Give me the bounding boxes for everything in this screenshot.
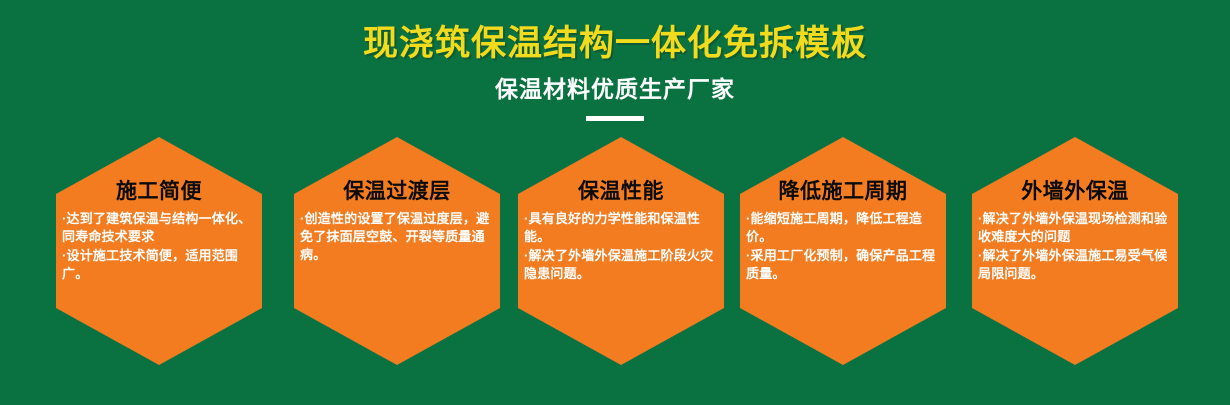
feature-hexagon-1-content: 施工简便 ·达到了建筑保温与结构一体化、同寿命技术要求 ·设计施工技术简便，适用…	[56, 179, 262, 284]
feature-title: 降低施工周期	[746, 179, 940, 205]
feature-hexagon-4[interactable]: 降低施工周期 ·能缩短施工周期，降低工程造价。 ·采用工厂化预制，确保产品工程质…	[740, 137, 946, 365]
page-title: 现浇筑保温结构一体化免拆模板	[0, 0, 1230, 66]
feature-bullet: ·采用工厂化预制，确保产品工程质量。	[746, 247, 940, 283]
feature-hexagon-5-content: 外墙外保温 ·解决了外墙外保温现场检测和验收难度大的问题 ·解决了外墙外保温施工…	[972, 179, 1178, 284]
feature-hexagon-2[interactable]: 保温过渡层 ·创造性的设置了保温过度层，避免了抹面层空鼓、开裂等质量通病。	[294, 137, 500, 365]
banner-header: 现浇筑保温结构一体化免拆模板 保温材料优质生产厂家	[0, 0, 1230, 121]
feature-title: 外墙外保温	[978, 179, 1172, 205]
feature-hexagon-5[interactable]: 外墙外保温 ·解决了外墙外保温现场检测和验收难度大的问题 ·解决了外墙外保温施工…	[972, 137, 1178, 365]
feature-hexagon-3-content: 保温性能 ·具有良好的力学性能和保温性能。 ·解决了外墙外保温施工阶段火灾隐患问…	[518, 179, 724, 284]
promo-banner: 现浇筑保温结构一体化免拆模板 保温材料优质生产厂家 施工简便 ·达到了建筑保温与…	[0, 0, 1230, 405]
feature-bullet: ·解决了外墙外保温施工易受气候局限问题。	[978, 247, 1172, 283]
feature-hexagon-4-content: 降低施工周期 ·能缩短施工周期，降低工程造价。 ·采用工厂化预制，确保产品工程质…	[740, 179, 946, 284]
feature-bullet: ·能缩短施工周期，降低工程造价。	[746, 210, 940, 246]
feature-hexagon-row: 施工简便 ·达到了建筑保温与结构一体化、同寿命技术要求 ·设计施工技术简便，适用…	[0, 137, 1230, 367]
feature-bullet: ·解决了外墙外保温施工阶段火灾隐患问题。	[524, 247, 718, 283]
feature-bullet: ·创造性的设置了保温过度层，避免了抹面层空鼓、开裂等质量通病。	[300, 210, 494, 264]
feature-hexagon-2-content: 保温过渡层 ·创造性的设置了保温过度层，避免了抹面层空鼓、开裂等质量通病。	[294, 179, 500, 265]
feature-hexagon-3[interactable]: 保温性能 ·具有良好的力学性能和保温性能。 ·解决了外墙外保温施工阶段火灾隐患问…	[518, 137, 724, 365]
feature-bullet-list: ·具有良好的力学性能和保温性能。 ·解决了外墙外保温施工阶段火灾隐患问题。	[524, 210, 718, 283]
feature-hexagon-1[interactable]: 施工简便 ·达到了建筑保温与结构一体化、同寿命技术要求 ·设计施工技术简便，适用…	[56, 137, 262, 365]
feature-title: 施工简便	[62, 179, 256, 205]
feature-title: 保温过渡层	[300, 179, 494, 205]
feature-title: 保温性能	[524, 179, 718, 205]
feature-bullet-list: ·解决了外墙外保温现场检测和验收难度大的问题 ·解决了外墙外保温施工易受气候局限…	[978, 210, 1172, 283]
title-divider	[586, 116, 644, 121]
feature-bullet-list: ·能缩短施工周期，降低工程造价。 ·采用工厂化预制，确保产品工程质量。	[746, 210, 940, 283]
feature-bullet: ·达到了建筑保温与结构一体化、同寿命技术要求	[62, 210, 256, 246]
feature-bullet-list: ·创造性的设置了保温过度层，避免了抹面层空鼓、开裂等质量通病。	[300, 210, 494, 264]
feature-bullet: ·具有良好的力学性能和保温性能。	[524, 210, 718, 246]
feature-bullet: ·解决了外墙外保温现场检测和验收难度大的问题	[978, 210, 1172, 246]
page-subtitle: 保温材料优质生产厂家	[0, 66, 1230, 104]
feature-bullet-list: ·达到了建筑保温与结构一体化、同寿命技术要求 ·设计施工技术简便，适用范围广。	[62, 210, 256, 283]
feature-bullet: ·设计施工技术简便，适用范围广。	[62, 247, 256, 283]
